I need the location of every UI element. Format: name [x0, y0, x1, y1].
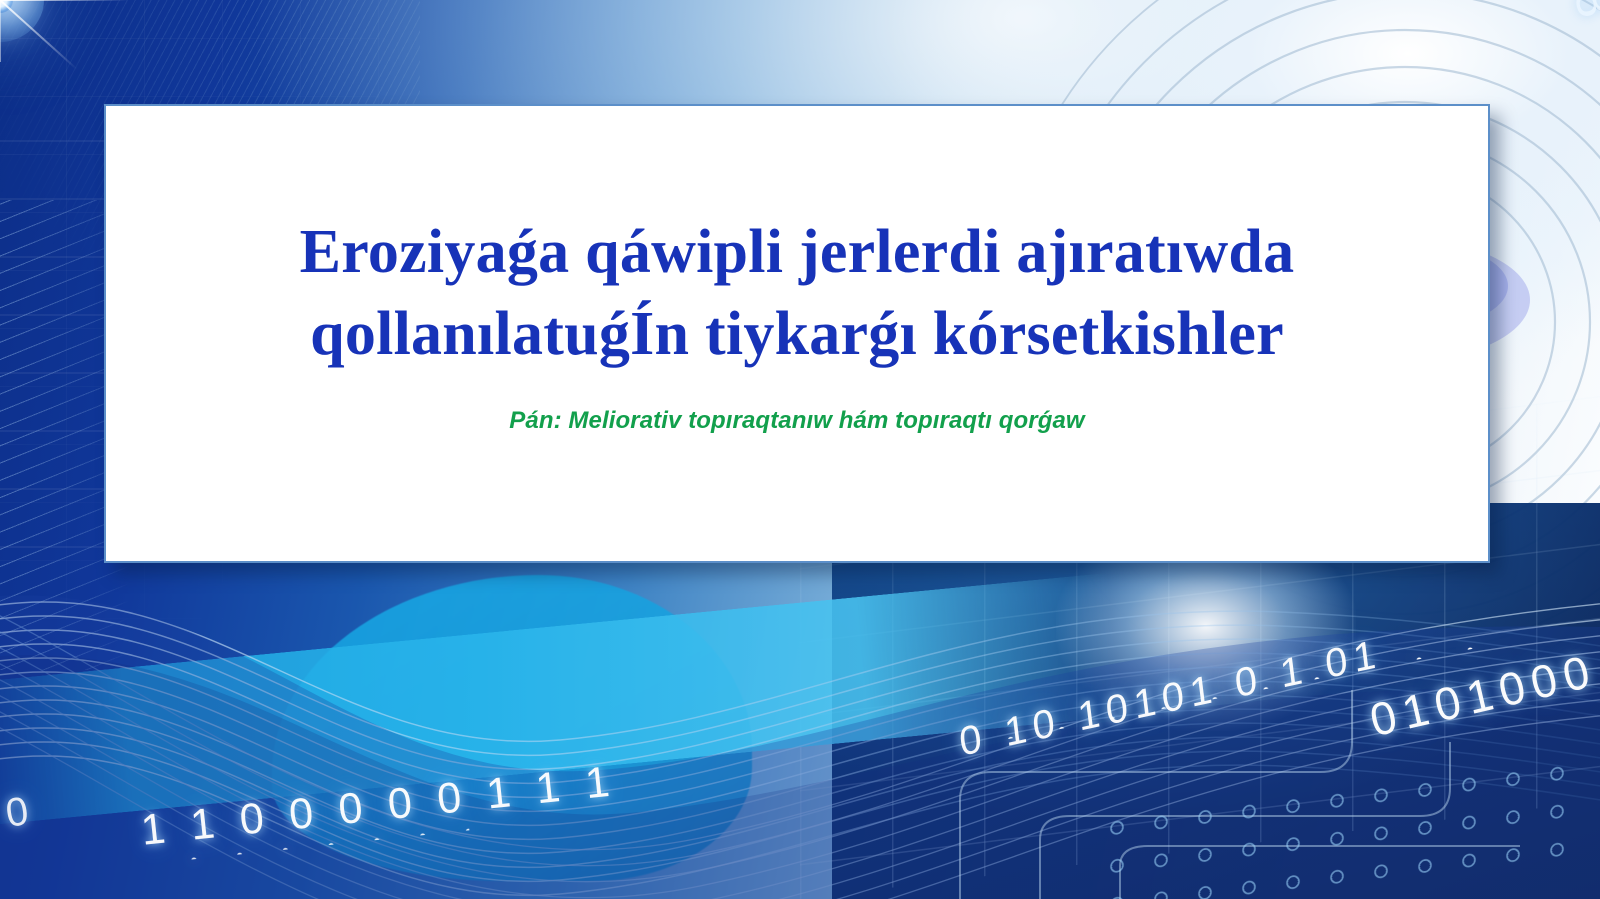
- background-binary-bottom-right: 0 10 10101 0 1 01: [957, 631, 1384, 766]
- title-card-content: Eroziyaǵa qáwipli jerlerdi ajıratıwda qo…: [106, 106, 1488, 561]
- dot-chain-icon: [984, 640, 1495, 743]
- background-binary-zero: 0: [3, 788, 38, 837]
- flare-ray-diagonal-2: [0, 0, 70, 54]
- circuit-pads-pattern: [1095, 753, 1575, 899]
- background-cyan-band: [0, 573, 1122, 827]
- background-digits-top-right: 3217328: [1521, 0, 1600, 24]
- flare-orb: [0, 0, 44, 42]
- dot-chain-icon-secondary: [171, 826, 470, 861]
- slide-subtitle: Pán: Meliorativ topıraqtanıw hám topıraq…: [509, 406, 1084, 436]
- page-title: Eroziyaǵa qáwipli jerlerdi ajıratıwda qo…: [197, 212, 1397, 376]
- title-slide: 0 1 1 0 0 0 0 0 1 1 1 0 10 10101 0 1 01 …: [0, 0, 1600, 899]
- flare-ray-diagonal-1: [0, 0, 78, 70]
- flare-ray-horizontal: [0, 0, 128, 1]
- title-card: Eroziyaǵa qáwipli jerlerdi ajıratıwda qo…: [104, 104, 1490, 563]
- flare-ray-vertical: [0, 0, 1, 62]
- background-binary-bottom-right-secondary: 0101000: [1365, 643, 1600, 747]
- flare-core: [0, 0, 13, 13]
- background-binary-bottom-left: 1 1 0 0 0 0 0 1 1 1: [139, 757, 619, 856]
- background-cyan-shape: [272, 575, 752, 881]
